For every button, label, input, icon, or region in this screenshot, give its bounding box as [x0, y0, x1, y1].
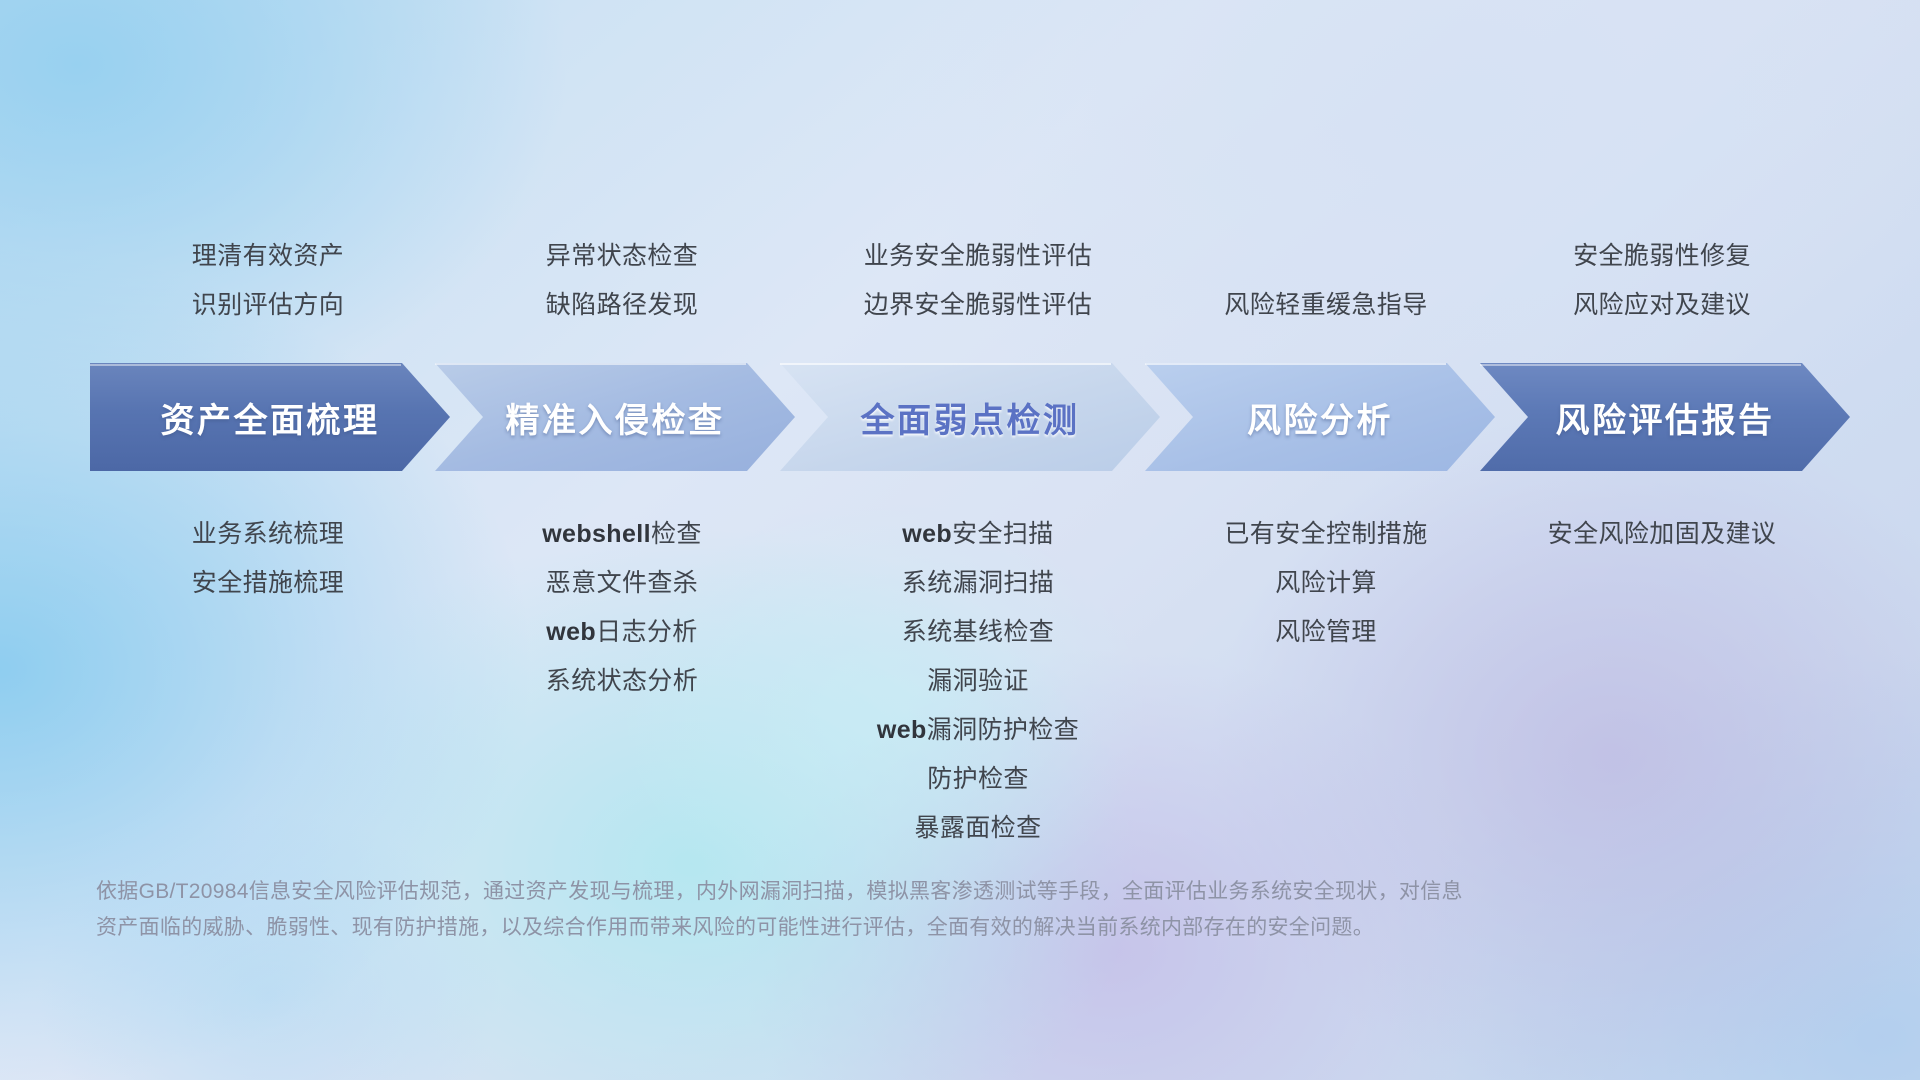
top-label: 边界安全脆弱性评估 — [864, 281, 1093, 330]
bottom-label: 系统漏洞扫描 — [902, 559, 1054, 608]
bottom-labels-intrusion-check: webshell检查 恶意文件查杀 web日志分析 系统状态分析 — [446, 510, 798, 706]
bottom-label: 安全措施梳理 — [192, 559, 344, 608]
top-labels-weakness-detection: 业务安全脆弱性评估 边界安全脆弱性评估 — [798, 232, 1158, 330]
chevron-label: 精准入侵检查 — [506, 393, 725, 442]
chevron-weakness-detection[interactable]: 全面弱点检测 — [780, 363, 1160, 471]
bottom-label: 系统状态分析 — [546, 657, 698, 706]
bottom-label: 风险计算 — [1275, 559, 1377, 608]
bottom-label: 漏洞验证 — [927, 657, 1029, 706]
bottom-labels-asset-inventory: 业务系统梳理 安全措施梳理 — [90, 510, 446, 608]
bottom-labels-row: 业务系统梳理 安全措施梳理 webshell检查 恶意文件查杀 web日志分析 … — [90, 510, 1830, 853]
top-label: 风险应对及建议 — [1573, 281, 1751, 330]
bottom-label: 恶意文件查杀 — [546, 559, 698, 608]
top-labels-asset-inventory: 理清有效资产 识别评估方向 — [90, 232, 446, 330]
infographic-stage: 理清有效资产 识别评估方向 异常状态检查 缺陷路径发现 业务安全脆弱性评估 边界… — [0, 0, 1920, 1080]
top-label: 风险轻重缓急指导 — [1224, 281, 1427, 330]
top-labels-risk-analysis: 风险轻重缓急指导 — [1158, 232, 1494, 330]
stage-chevron-band: 资产全面梳理 精准入侵检查 — [90, 363, 1850, 471]
footer-line-1: 依据GB/T20984信息安全风险评估规范，通过资产发现与梳理，内外网漏洞扫描，… — [96, 874, 1736, 910]
bottom-label: web漏洞防护检查 — [877, 706, 1079, 755]
top-label: 异常状态检查 — [546, 232, 698, 281]
footer-line-2: 资产面临的威胁、脆弱性、现有防护措施，以及综合作用而带来风险的可能性进行评估，全… — [96, 910, 1736, 946]
top-label: 业务安全脆弱性评估 — [864, 232, 1093, 281]
chevron-label: 风险分析 — [1247, 393, 1393, 442]
bottom-labels-weakness-detection: web安全扫描 系统漏洞扫描 系统基线检查 漏洞验证 web漏洞防护检查 防护检… — [798, 510, 1158, 853]
top-label: 安全脆弱性修复 — [1573, 232, 1751, 281]
bottom-label: 风险管理 — [1275, 608, 1377, 657]
bottom-label: 暴露面检查 — [914, 804, 1041, 853]
chevron-label: 风险评估报告 — [1556, 393, 1775, 442]
chevron-asset-inventory[interactable]: 资产全面梳理 — [90, 363, 450, 471]
bottom-label: 安全风险加固及建议 — [1548, 510, 1777, 559]
chevron-label: 全面弱点检测 — [861, 393, 1080, 442]
top-label: 识别评估方向 — [192, 281, 344, 330]
bottom-label: web安全扫描 — [902, 510, 1053, 559]
top-labels-risk-report: 安全脆弱性修复 风险应对及建议 — [1494, 232, 1830, 330]
chevron-label: 资产全面梳理 — [161, 393, 380, 442]
bottom-labels-risk-analysis: 已有安全控制措施 风险计算 风险管理 — [1158, 510, 1494, 657]
chevron-risk-analysis[interactable]: 风险分析 — [1145, 363, 1495, 471]
bottom-label: 系统基线检查 — [902, 608, 1054, 657]
bottom-label: web日志分析 — [546, 608, 697, 657]
chevron-intrusion-check[interactable]: 精准入侵检查 — [435, 363, 795, 471]
footer-description: 依据GB/T20984信息安全风险评估规范，通过资产发现与梳理，内外网漏洞扫描，… — [96, 874, 1736, 946]
chevron-risk-report[interactable]: 风险评估报告 — [1480, 363, 1850, 471]
bottom-labels-risk-report: 安全风险加固及建议 — [1494, 510, 1830, 559]
bottom-label: 防护检查 — [927, 755, 1029, 804]
top-labels-row: 理清有效资产 识别评估方向 异常状态检查 缺陷路径发现 业务安全脆弱性评估 边界… — [90, 232, 1830, 330]
top-label: 理清有效资产 — [192, 232, 344, 281]
bottom-label: 已有安全控制措施 — [1224, 510, 1427, 559]
top-label: 缺陷路径发现 — [546, 281, 698, 330]
top-labels-intrusion-check: 异常状态检查 缺陷路径发现 — [446, 232, 798, 330]
bottom-label: webshell检查 — [542, 510, 702, 559]
bottom-label: 业务系统梳理 — [192, 510, 344, 559]
